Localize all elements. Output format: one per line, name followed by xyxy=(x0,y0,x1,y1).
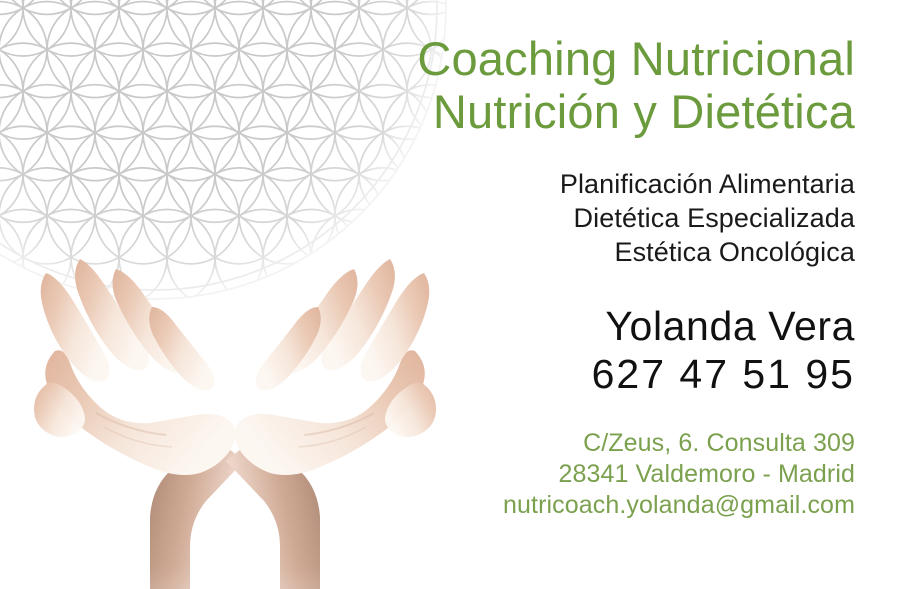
identity-block: Yolanda Vera 627 47 51 95 xyxy=(295,302,855,398)
service-item: Planificación Alimentaria xyxy=(295,167,855,201)
phone-number[interactable]: 627 47 51 95 xyxy=(295,350,855,398)
services-list: Planificación Alimentaria Dietética Espe… xyxy=(295,167,855,269)
service-item: Dietética Especializada xyxy=(295,201,855,235)
left-hand xyxy=(34,259,244,589)
address-line-1: C/Zeus, 6. Consulta 309 xyxy=(295,428,855,459)
headline-line-2: Nutrición y Dietética xyxy=(295,85,855,138)
email-address[interactable]: nutricoach.yolanda@gmail.com xyxy=(295,490,855,521)
headline-line-1: Coaching Nutricional xyxy=(295,32,855,85)
headline-block: Coaching Nutricional Nutrición y Dietéti… xyxy=(295,32,855,138)
business-card: Coaching Nutricional Nutrición y Dietéti… xyxy=(0,0,900,589)
text-column: Coaching Nutricional Nutrición y Dietéti… xyxy=(295,0,855,521)
practitioner-name: Yolanda Vera xyxy=(295,302,855,350)
address-line-2: 28341 Valdemoro - Madrid xyxy=(295,459,855,490)
contact-block: C/Zeus, 6. Consulta 309 28341 Valdemoro … xyxy=(295,428,855,521)
service-item: Estética Oncológica xyxy=(295,235,855,269)
